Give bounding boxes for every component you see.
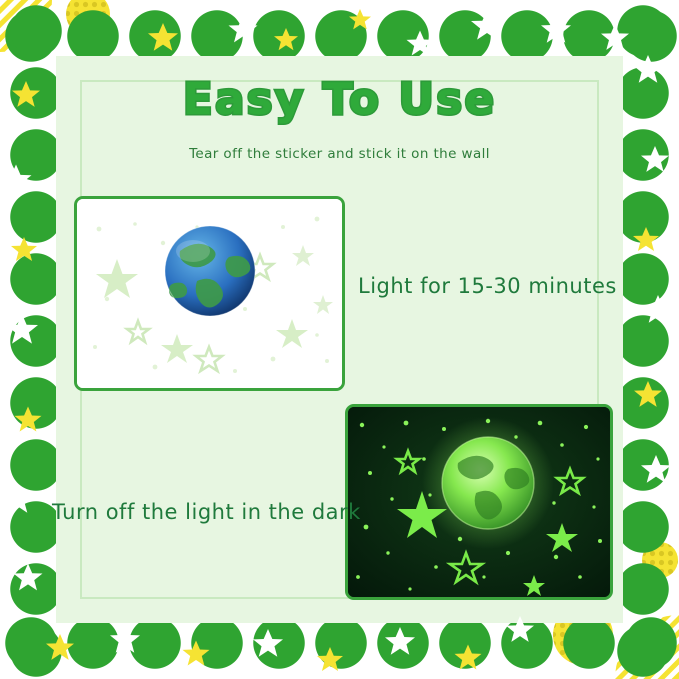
caption-light: Light for 15-30 minutes <box>358 274 617 298</box>
earth-sticker-daylight-photo <box>74 196 345 391</box>
daylight-scene <box>77 199 342 388</box>
product-infographic: Easy To Use Tear off the sticker and sti… <box>0 0 679 679</box>
darkroom-scene <box>348 407 610 597</box>
frame-top <box>0 0 679 62</box>
frame-bottom <box>0 617 679 679</box>
caption-dark: Turn off the light in the dark <box>52 500 361 524</box>
page-subtitle: Tear off the sticker and stick it on the… <box>0 146 679 162</box>
page-title: Easy To Use <box>0 74 679 125</box>
earth-sticker-glow-photo <box>345 404 613 600</box>
